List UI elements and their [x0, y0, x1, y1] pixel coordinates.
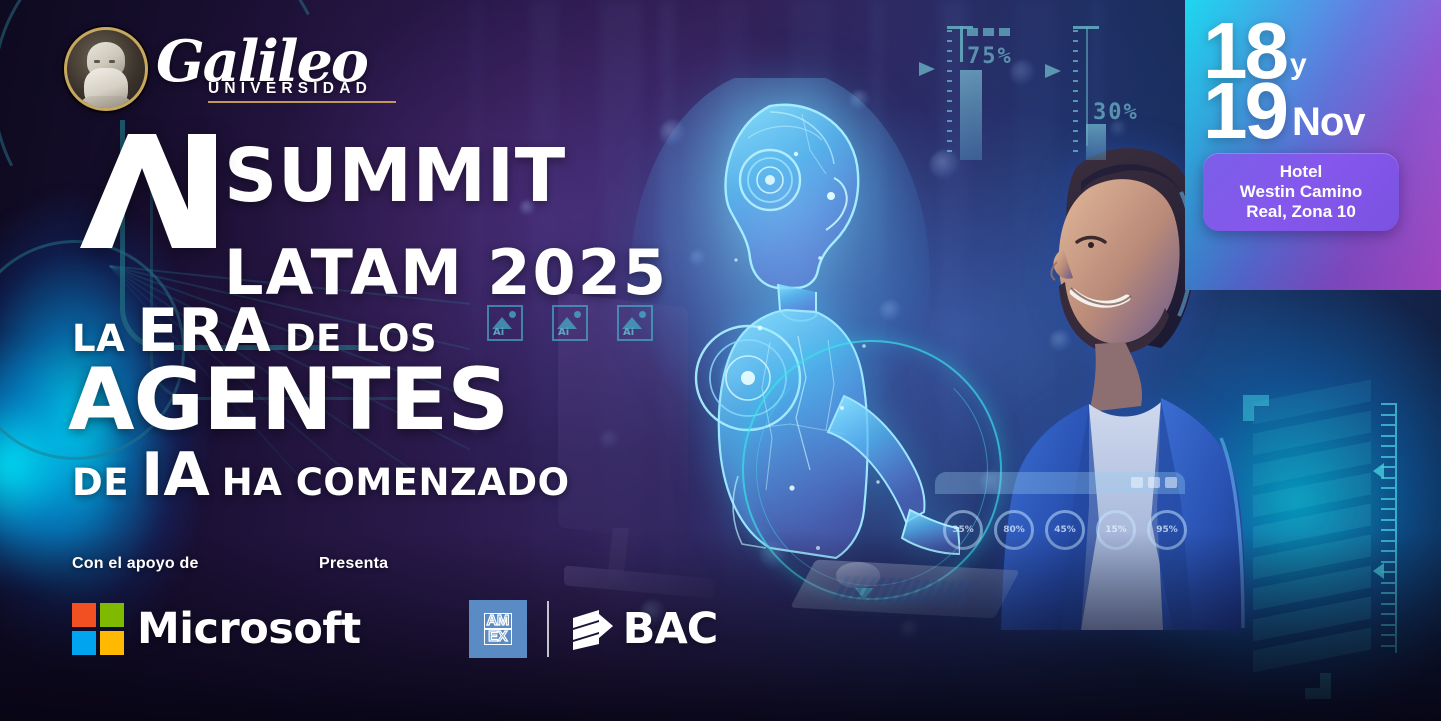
- sponsor-section: Con el apoyo de Presenta Microsoft AM EX: [72, 555, 717, 658]
- logo-wordmark: Galileo UNIVERSIDAD: [156, 35, 396, 103]
- gauge-stem-left: [960, 26, 963, 62]
- bac-logo[interactable]: BAC: [569, 604, 718, 654]
- venue-line-1: Hotel: [1211, 162, 1391, 182]
- date-month: Nov: [1292, 106, 1365, 139]
- dashboard-titlebar: [935, 472, 1185, 494]
- venue-badge[interactable]: Hotel Westin Camino Real, Zona 10: [1203, 153, 1399, 231]
- venue-line-3: Real, Zona 10: [1211, 202, 1391, 222]
- gauge-value-right: 30%: [1093, 100, 1139, 125]
- tagline-line-3: DE IA HA COMENZADO: [72, 440, 570, 510]
- amex-line-2: EX: [484, 629, 512, 645]
- amex-line-1: AM: [484, 613, 512, 629]
- gauge-marker-right: [1045, 64, 1061, 78]
- bust-shoulders: [77, 96, 135, 111]
- microsoft-square-yellow: [100, 631, 124, 655]
- amex-wordmark: AM EX: [484, 613, 512, 645]
- gauge-marker-left: [919, 62, 935, 76]
- title-latam-year: LATAM 2025: [224, 245, 668, 301]
- bust-shape: [75, 38, 137, 111]
- sponsor-labels: Con el apoyo de Presenta: [72, 555, 717, 573]
- title-summit: SUMMIT: [224, 145, 566, 209]
- date-conjunction: y: [1290, 53, 1307, 78]
- window-dot: [1165, 477, 1177, 488]
- logo-underline: [208, 101, 396, 103]
- microsoft-squares-icon: [72, 603, 124, 655]
- gauge-value-left: 75%: [967, 44, 1013, 69]
- tagline-ia: IA: [141, 440, 210, 510]
- bust-eye-left: [94, 60, 100, 63]
- gauge-scale-right: [1073, 30, 1078, 160]
- tagline-de: DE: [72, 461, 129, 504]
- corner-bracket-top: [1243, 395, 1269, 421]
- university-subtitle: UNIVERSIDAD: [208, 80, 396, 98]
- gauge-fill-right: [1086, 124, 1106, 160]
- date-content: 18 y 19 Nov Hotel Westin Camino Real, Zo…: [1185, 0, 1441, 231]
- sponsor-logos: Microsoft AM EX: [72, 600, 717, 658]
- gauge-scale-left: [947, 30, 952, 160]
- venue-line-2: Westin Camino: [1211, 182, 1391, 202]
- event-title: SUMMIT LATAM 2025: [72, 128, 668, 301]
- microsoft-wordmark: Microsoft: [137, 604, 361, 654]
- galileo-bust-icon: [64, 27, 148, 111]
- presents-label: Presenta: [319, 555, 388, 573]
- ai-logomark: [72, 128, 232, 253]
- microsoft-logo[interactable]: Microsoft: [72, 603, 361, 655]
- bac-mark-icon: [569, 606, 615, 652]
- window-dot: [1131, 477, 1143, 488]
- title-line-1: SUMMIT: [72, 128, 668, 253]
- window-dot: [1148, 477, 1160, 488]
- galileo-university-logo[interactable]: Galileo UNIVERSIDAD: [64, 27, 396, 111]
- tagline-ha-comenzado: HA COMENZADO: [222, 461, 570, 504]
- tagline-agentes: AGENTES: [68, 350, 508, 450]
- date-panel: 18 y 19 Nov Hotel Westin Camino Real, Zo…: [1185, 0, 1441, 290]
- date-row-2: 19 Nov: [1203, 78, 1425, 144]
- bac-wordmark: BAC: [623, 604, 718, 654]
- amex-logo[interactable]: AM EX: [469, 600, 527, 658]
- window-controls: [1131, 477, 1177, 488]
- sun-dot: [574, 311, 581, 318]
- event-banner: Ai Ai Ai: [0, 0, 1441, 721]
- event-tagline: LA ERA DE LOS AGENTES DE IA HA COMENZADO: [72, 296, 570, 510]
- gauge-dots-left: [967, 28, 1010, 36]
- tagline-line-2: AGENTES: [68, 360, 570, 442]
- ruler-marker: [1373, 463, 1384, 479]
- hud-bar-gauges: 75% 30%: [905, 12, 1195, 187]
- microsoft-square-blue: [72, 631, 96, 655]
- microsoft-square-green: [100, 603, 124, 627]
- bust-eye-right: [109, 60, 115, 63]
- support-label: Con el apoyo de: [72, 555, 319, 573]
- date-day-2: 19: [1203, 78, 1286, 144]
- gauge-fill-left: [960, 70, 982, 160]
- microsoft-square-red: [72, 603, 96, 627]
- sponsor-divider: [547, 601, 549, 657]
